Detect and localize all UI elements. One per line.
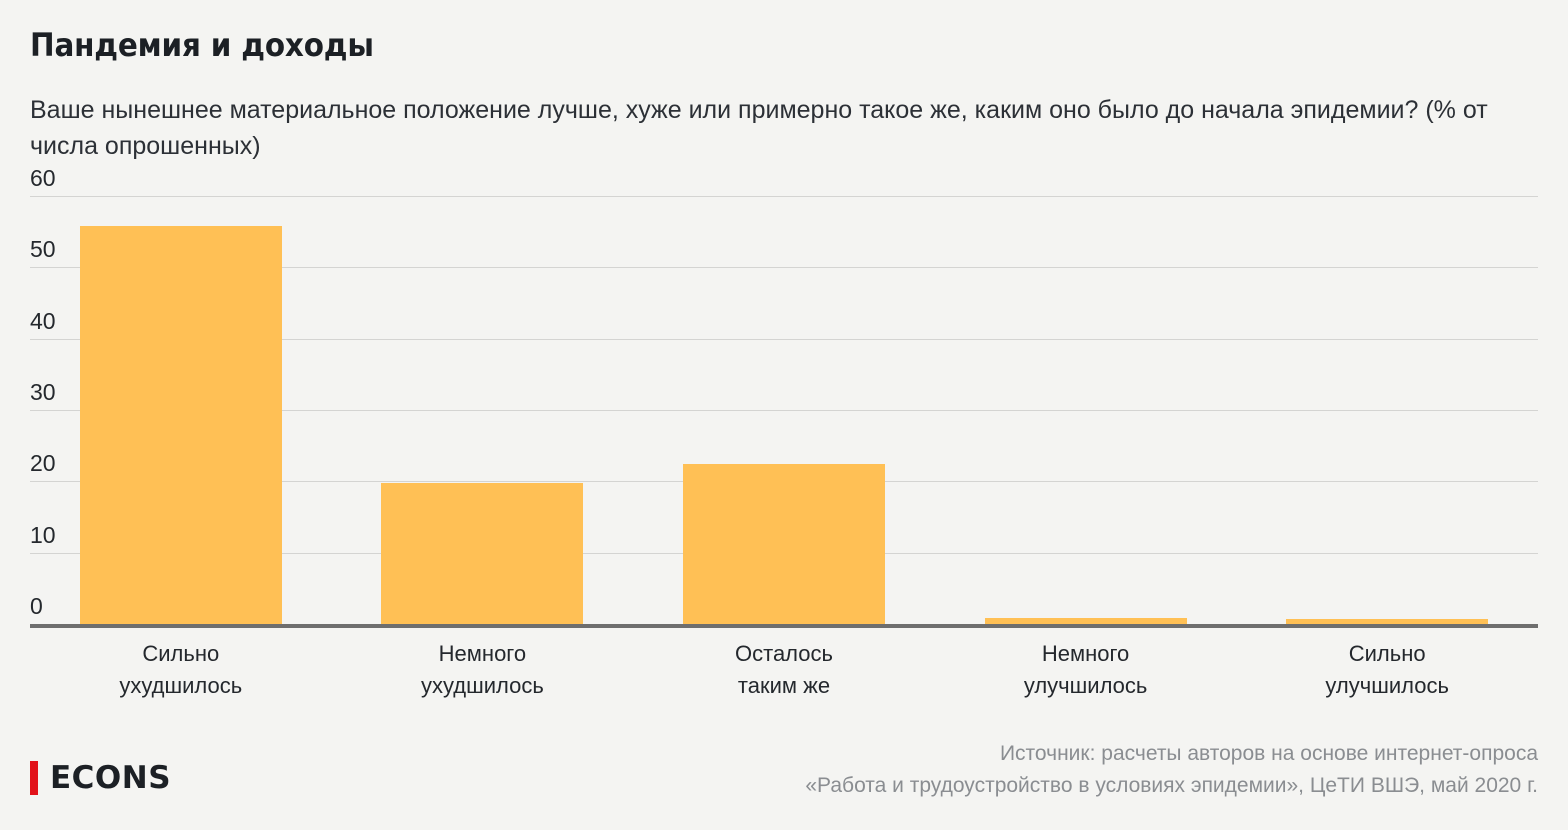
x-axis-tick-label-line: Осталось	[633, 638, 935, 670]
source-note: Источник: расчеты авторов на основе инте…	[538, 738, 1538, 802]
source-line-2: «Работа и трудоустройство в условиях эпи…	[538, 770, 1538, 802]
x-axis-tick-label-line: Немного	[332, 638, 634, 670]
x-axis-tick-label-line: Сильно	[1236, 638, 1538, 670]
plot-area: 0102030405060	[30, 196, 1538, 628]
x-axis-labels: СильноухудшилосьНемногоухудшилосьОсталос…	[30, 638, 1538, 708]
x-axis-tick-label-line: Сильно	[30, 638, 332, 670]
x-axis-tick-label-line: улучшилось	[1236, 670, 1538, 702]
source-line-1: Источник: расчеты авторов на основе инте…	[538, 738, 1538, 770]
x-axis-tick-label-line: Немного	[935, 638, 1237, 670]
chart-subtitle: Ваше нынешнее материальное положение луч…	[30, 92, 1540, 164]
x-axis-tick-label: Немногоухудшилось	[332, 638, 634, 702]
bar	[683, 464, 885, 624]
y-axis-tick-label: 60	[30, 167, 56, 196]
page-title: Пандемия и доходы	[30, 26, 374, 64]
econs-logo: ECONS	[30, 760, 171, 796]
x-axis-tick-label-line: таким же	[633, 670, 935, 702]
x-axis-tick-label: Сильноулучшилось	[1236, 638, 1538, 702]
x-axis-tick-label-line: улучшилось	[935, 670, 1237, 702]
x-axis-tick-label: Сильноухудшилось	[30, 638, 332, 702]
x-axis-tick-label-line: ухудшилось	[30, 670, 332, 702]
logo-accent-bar-icon	[30, 761, 38, 795]
x-axis-tick-label-line: ухудшилось	[332, 670, 634, 702]
logo-text: ECONS	[50, 760, 171, 796]
x-axis-tick-label: Немногоулучшилось	[935, 638, 1237, 702]
x-axis-line	[30, 624, 1538, 628]
x-axis-tick-label: Осталосьтаким же	[633, 638, 935, 702]
bar	[80, 226, 282, 624]
chart-page: Пандемия и доходы Ваше нынешнее материал…	[0, 0, 1568, 830]
bar-series	[30, 196, 1538, 628]
bar	[381, 483, 583, 624]
